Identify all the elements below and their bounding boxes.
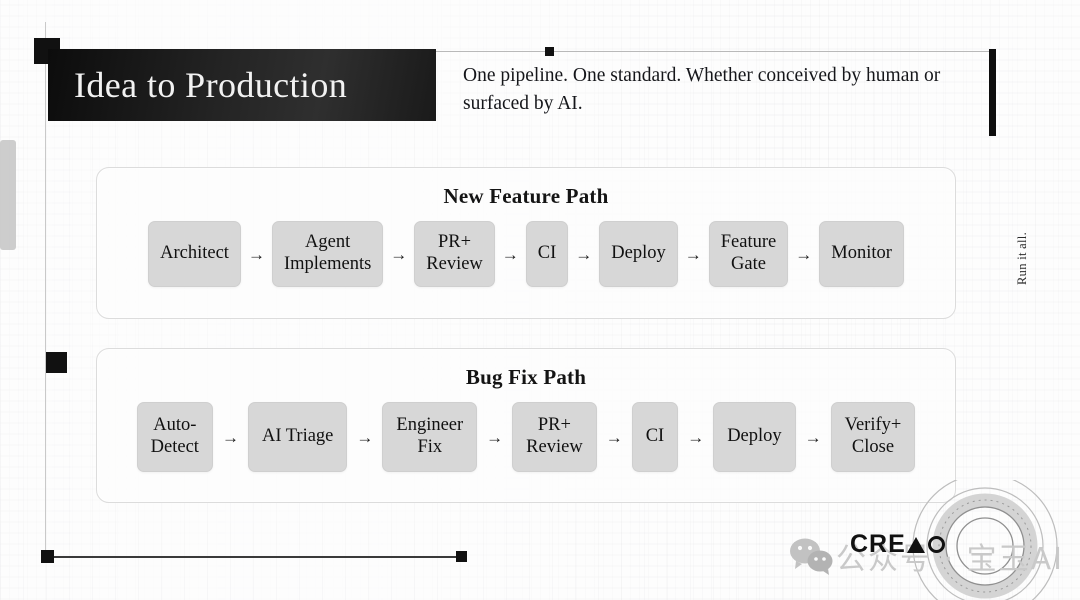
flow-arrow: →	[678, 429, 713, 446]
flow-step[interactable]: PR+ Review	[512, 402, 597, 472]
panel-heading-bug-fix-path: Bug Fix Path	[97, 365, 955, 390]
flow-arrow: →	[796, 429, 831, 446]
corner-marker-left	[46, 352, 67, 373]
left-edge-tab	[0, 140, 16, 250]
flow-step[interactable]: Verify+ Close	[831, 402, 916, 472]
circle-o-icon	[928, 536, 945, 553]
flow-arrow: →	[678, 246, 709, 263]
panel-heading-new-feature-path: New Feature Path	[97, 184, 955, 209]
slide-canvas: Idea to Production One pipeline. One sta…	[0, 0, 1080, 600]
flow-step[interactable]: Agent Implements	[272, 221, 383, 287]
corner-marker-top	[545, 47, 554, 56]
flow-arrow: →	[788, 246, 819, 263]
flow-step[interactable]: Deploy	[599, 221, 677, 287]
creao-logo: CRE	[850, 530, 945, 559]
watermark-chinese-text: 公众号 · 宝玉AI	[836, 534, 1064, 578]
triangle-a-icon	[907, 537, 925, 553]
flow-arrow: →	[568, 246, 599, 263]
flow-step[interactable]: Feature Gate	[709, 221, 788, 287]
flow-step[interactable]: Architect	[148, 221, 241, 287]
flow-arrow: →	[213, 429, 248, 446]
panel-new-feature-path: New Feature Path Architect→Agent Impleme…	[96, 167, 956, 319]
title-band: Idea to Production	[48, 49, 436, 121]
flow-arrow: →	[477, 429, 512, 446]
flow-step[interactable]: CI	[632, 402, 679, 472]
flow-step[interactable]: Monitor	[819, 221, 904, 287]
side-note: Run it all.	[1015, 232, 1030, 285]
page-title: Idea to Production	[48, 64, 347, 106]
frame-vertical-bar-right	[989, 49, 996, 136]
corner-marker-bottom-right	[456, 551, 467, 562]
flow-step[interactable]: Deploy	[713, 402, 795, 472]
frame-horizontal-line-bottom	[47, 556, 463, 558]
wechat-icon	[788, 536, 836, 576]
frame-horizontal-line-top	[430, 51, 990, 52]
flow-step[interactable]: AI Triage	[248, 402, 347, 472]
panel-bug-fix-path: Bug Fix Path Auto- Detect→AI Triage→Engi…	[96, 348, 956, 503]
flow-arrow: →	[383, 246, 414, 263]
frame-vertical-line-left	[45, 22, 46, 560]
flow-row-new-feature-path: Architect→Agent Implements→PR+ Review→CI…	[97, 221, 955, 287]
flow-arrow: →	[241, 246, 272, 263]
page-subtitle: One pipeline. One standard. Whether conc…	[463, 62, 963, 117]
flow-row-bug-fix-path: Auto- Detect→AI Triage→Engineer Fix→PR+ …	[97, 402, 955, 472]
flow-step[interactable]: Auto- Detect	[137, 402, 213, 472]
flow-step[interactable]: Engineer Fix	[382, 402, 477, 472]
flow-arrow: →	[597, 429, 632, 446]
creao-logo-text: CRE	[850, 530, 906, 559]
flow-step[interactable]: PR+ Review	[414, 221, 495, 287]
flow-step[interactable]: CI	[526, 221, 569, 287]
flow-arrow: →	[495, 246, 526, 263]
flow-arrow: →	[347, 429, 382, 446]
corner-marker-bottom-left	[41, 550, 54, 563]
